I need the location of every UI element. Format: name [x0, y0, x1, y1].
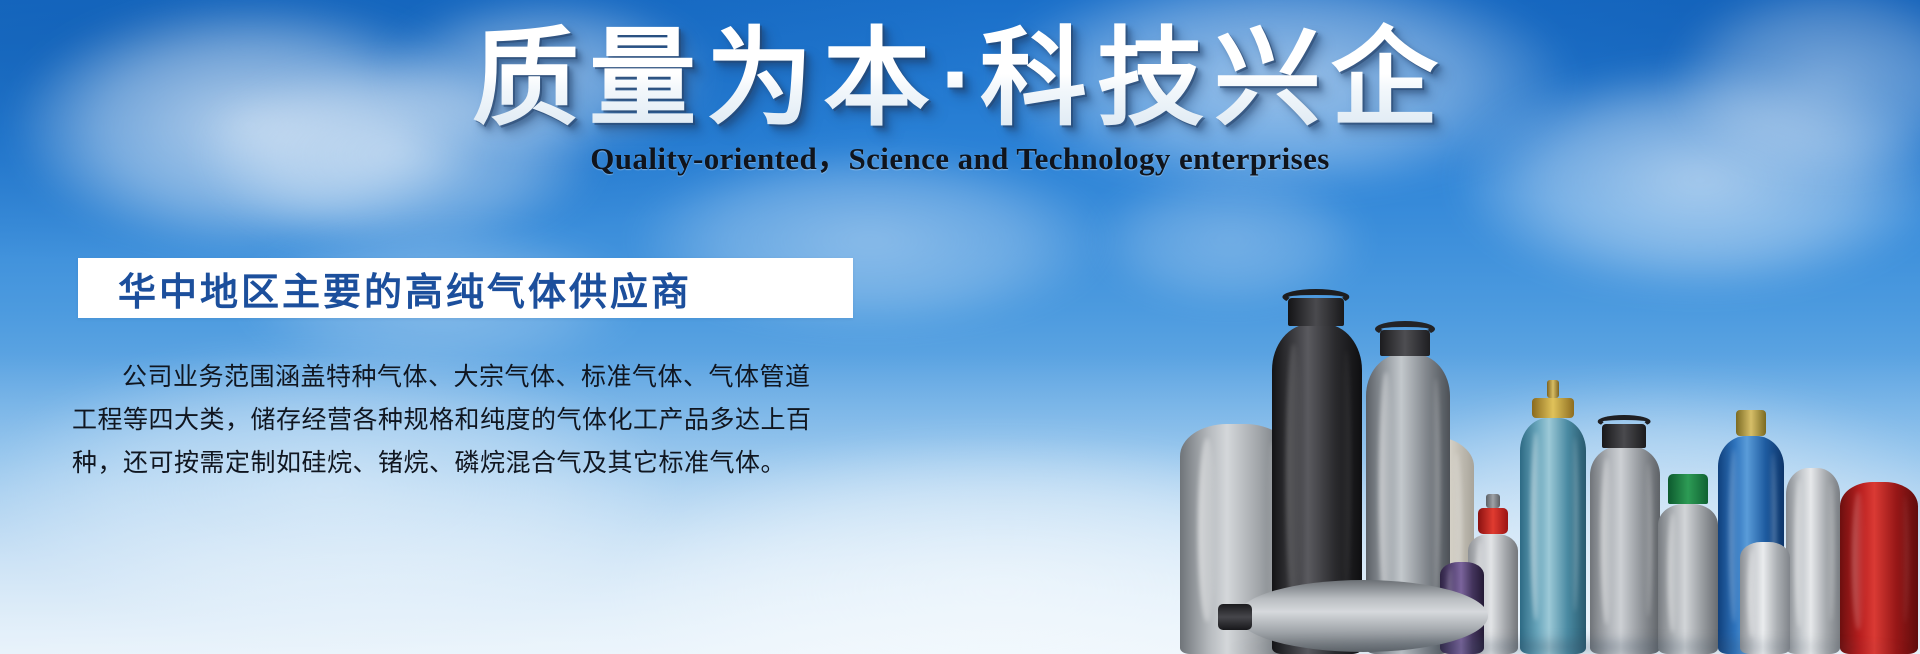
red-valve-knob — [1478, 508, 1508, 534]
blue-cylinder-valve — [1736, 410, 1766, 436]
green-valve-cap — [1668, 474, 1708, 504]
brass-valve-stem — [1547, 380, 1559, 398]
horizontal-tank-valve — [1218, 604, 1252, 630]
headline-container: 质量为本·科技兴企 — [0, 22, 1920, 135]
callout-text: 华中地区主要的高纯气体供应商 — [78, 261, 692, 316]
grey-wide-cylinder-cap — [1602, 424, 1646, 448]
red-large-cylinder — [1840, 482, 1918, 654]
body-paragraph: 公司业务范围涵盖特种气体、大宗气体、标准气体、气体管道 工程等四大类，储存经营各… — [72, 356, 872, 485]
hero-banner: 质量为本·科技兴企 Quality-oriented，Science and T… — [0, 0, 1920, 654]
english-subheadline: Quality-oriented，Science and Technology … — [590, 140, 1329, 177]
main-headline: 质量为本·科技兴企 — [462, 22, 1458, 135]
grey-wide-cylinder — [1590, 446, 1660, 654]
headline-part-two: 科技兴企 — [980, 18, 1448, 138]
headline-part-one: 质量为本 — [472, 18, 940, 138]
cylinder-group-shadow — [1220, 634, 1920, 654]
black-cylinder-cap — [1288, 298, 1344, 326]
callout-box: 华中地区主要的高纯气体供应商 — [78, 258, 853, 318]
red-cylinder-neck — [1486, 494, 1500, 508]
body-line: 种，还可按需定制如硅烷、锗烷、磷烷混合气及其它标准气体。 — [72, 442, 872, 485]
brass-valve — [1532, 398, 1574, 418]
aluminium-cylinder — [1786, 468, 1840, 654]
teal-cylinder — [1520, 418, 1586, 654]
gas-cylinder-group — [1220, 234, 1920, 654]
body-line: 公司业务范围涵盖特种气体、大宗气体、标准气体、气体管道 — [72, 356, 872, 399]
steel-cylinder-cap — [1380, 330, 1430, 356]
green-cap-cylinder — [1658, 504, 1718, 654]
headline-separator-dot: · — [940, 18, 980, 138]
subheadline-container: Quality-oriented，Science and Technology … — [0, 140, 1920, 177]
body-line: 工程等四大类，储存经营各种规格和纯度的气体化工产品多达上百 — [72, 399, 872, 442]
